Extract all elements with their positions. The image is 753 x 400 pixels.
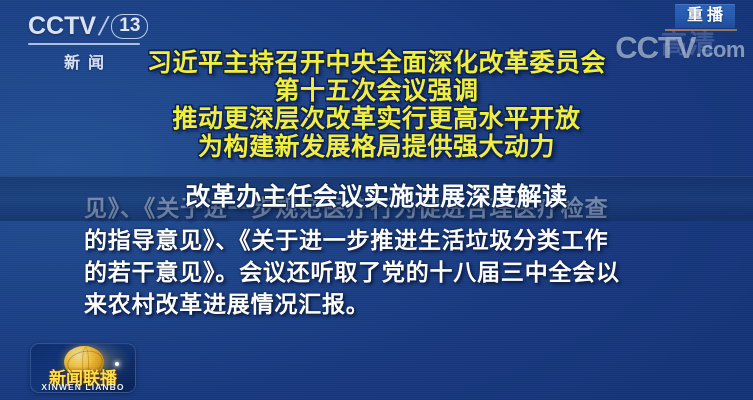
cctv13-channel-number: 13 [111, 14, 148, 39]
xinwen-lianbo-program-logo: 新闻联播 XINWEN LIANBO [30, 343, 136, 393]
replay-badge-label: 重播 [683, 7, 727, 24]
broadcast-screen: CCTV / 13 新闻 重播 高清 CCTV .com 习近平主持召开中央全面… [0, 0, 753, 400]
watermark-cctv-text: CCTV [615, 33, 695, 63]
cctv13-logo-row: CCTV / 13 [28, 11, 146, 41]
headline-line-2: 第十五次会议强调 [0, 77, 753, 105]
body-line-4: 来农村改革进展情况汇报。 [84, 288, 684, 320]
body-line-2: 的指导意见》、《关于进一步推进生活垃圾分类工作 [84, 224, 684, 256]
headline-line-3: 推动更深层次改革实行更高水平开放 [0, 105, 753, 133]
overlay-banner-title: 改革办主任会议实施进展深度解读 [0, 180, 753, 214]
cctv-wordmark: CCTV [28, 12, 96, 40]
headline-line-4: 为构建新发展格局提供强大动力 [0, 133, 753, 161]
cctv13-sub-label: 新闻 [28, 49, 140, 73]
overlay-title-text: 改革办主任会议实施进展深度解读 [185, 183, 568, 211]
cctv13-channel-logo: CCTV / 13 新闻 [28, 11, 146, 69]
replay-badge-underline [665, 29, 737, 31]
cctv-dotcom-watermark: CCTV .com [615, 33, 745, 63]
body-line-3: 的若干意见》。会议还听取了党的十八届三中全会以 [84, 256, 684, 288]
replay-status-badge: 重播 [675, 4, 735, 28]
cctv13-underline-rule [28, 43, 140, 45]
watermark-dotcom-text: .com [696, 37, 745, 63]
program-logo-en-label: XINWEN LIANBO [31, 382, 135, 392]
cctv13-slash-icon: / [97, 13, 111, 39]
